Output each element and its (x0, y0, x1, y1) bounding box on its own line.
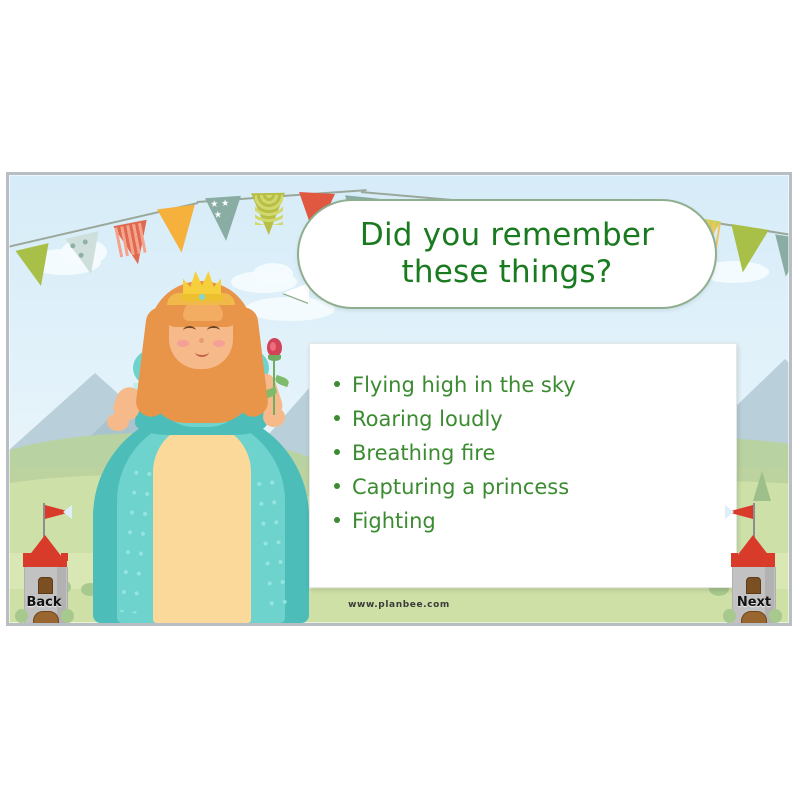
bush-icon (723, 609, 736, 623)
watermark: www.planbee.com (9, 600, 789, 610)
rose-stem (273, 353, 275, 415)
bullet-icon (334, 517, 340, 523)
castle-merlon (741, 553, 749, 561)
list-item: Roaring loudly (334, 402, 736, 436)
princess-skirt-panel (153, 423, 251, 623)
castle-merlon (37, 553, 45, 561)
tree-icon (753, 471, 771, 501)
next-button[interactable]: Next (723, 501, 785, 623)
rose-sepal (268, 355, 281, 361)
castle-door (741, 611, 767, 626)
list-item-label: Capturing a princess (352, 470, 569, 504)
list-item: Breathing fire (334, 436, 736, 470)
castle-roof (25, 535, 65, 561)
bullet-icon (334, 449, 340, 455)
castle-merlon (731, 553, 738, 561)
castle-merlon (755, 553, 763, 561)
next-button-label: Next (723, 595, 785, 610)
crown-gem (199, 294, 205, 300)
list-item-label: Roaring loudly (352, 402, 503, 436)
bush-icon (61, 609, 74, 623)
back-button-label: Back (13, 595, 75, 610)
slide-frame: ★ ★ ★ ★ ★ ★ (6, 172, 792, 626)
castle-merlon (23, 553, 31, 561)
screenshot-canvas: ★ ★ ★ ★ ★ ★ (0, 0, 798, 798)
bullet-icon (334, 483, 340, 489)
princess-mouth (195, 347, 209, 357)
bunting-flag (724, 224, 769, 275)
bullet-icon (334, 415, 340, 421)
princess-nose (199, 338, 204, 343)
red-flag-notch (725, 505, 734, 519)
back-button[interactable]: Back (13, 501, 75, 623)
princess-cheek-right (213, 340, 225, 347)
list-item: Fighting (334, 504, 736, 538)
princess-eye-right (207, 326, 220, 335)
content-card: Flying high in the sky Roaring loudly Br… (309, 343, 737, 588)
flag-pattern-spiral (255, 195, 283, 225)
princess-cheek-left (177, 340, 189, 347)
bush-icon (15, 609, 28, 623)
castle-window (746, 577, 761, 594)
speech-bubble: Did you remember these things? (297, 199, 717, 309)
speech-bubble-text: Did you remember these things? (338, 217, 676, 290)
bush-icon (769, 609, 782, 623)
list-item-label: Breathing fire (352, 436, 495, 470)
castle-merlon (767, 553, 775, 561)
checklist: Flying high in the sky Roaring loudly Br… (334, 368, 736, 538)
bullet-icon (334, 381, 340, 387)
list-item: Capturing a princess (334, 470, 736, 504)
princess-hand-left (107, 413, 129, 431)
speech-bubble-tail (283, 283, 309, 303)
castle-window (38, 577, 53, 594)
princess-character (87, 223, 315, 623)
castle-door (33, 611, 59, 626)
rose-bloom-highlight (270, 342, 276, 351)
speech-line-2: these things? (402, 254, 613, 290)
princess-eye-left (183, 326, 196, 335)
list-item-label: Fighting (352, 504, 436, 538)
speech-line-1: Did you remember (360, 217, 654, 253)
list-item-label: Flying high in the sky (352, 368, 576, 402)
castle-merlon (51, 553, 59, 561)
castle-merlon (61, 553, 68, 561)
red-flag-notch (63, 505, 72, 519)
list-item: Flying high in the sky (334, 368, 736, 402)
